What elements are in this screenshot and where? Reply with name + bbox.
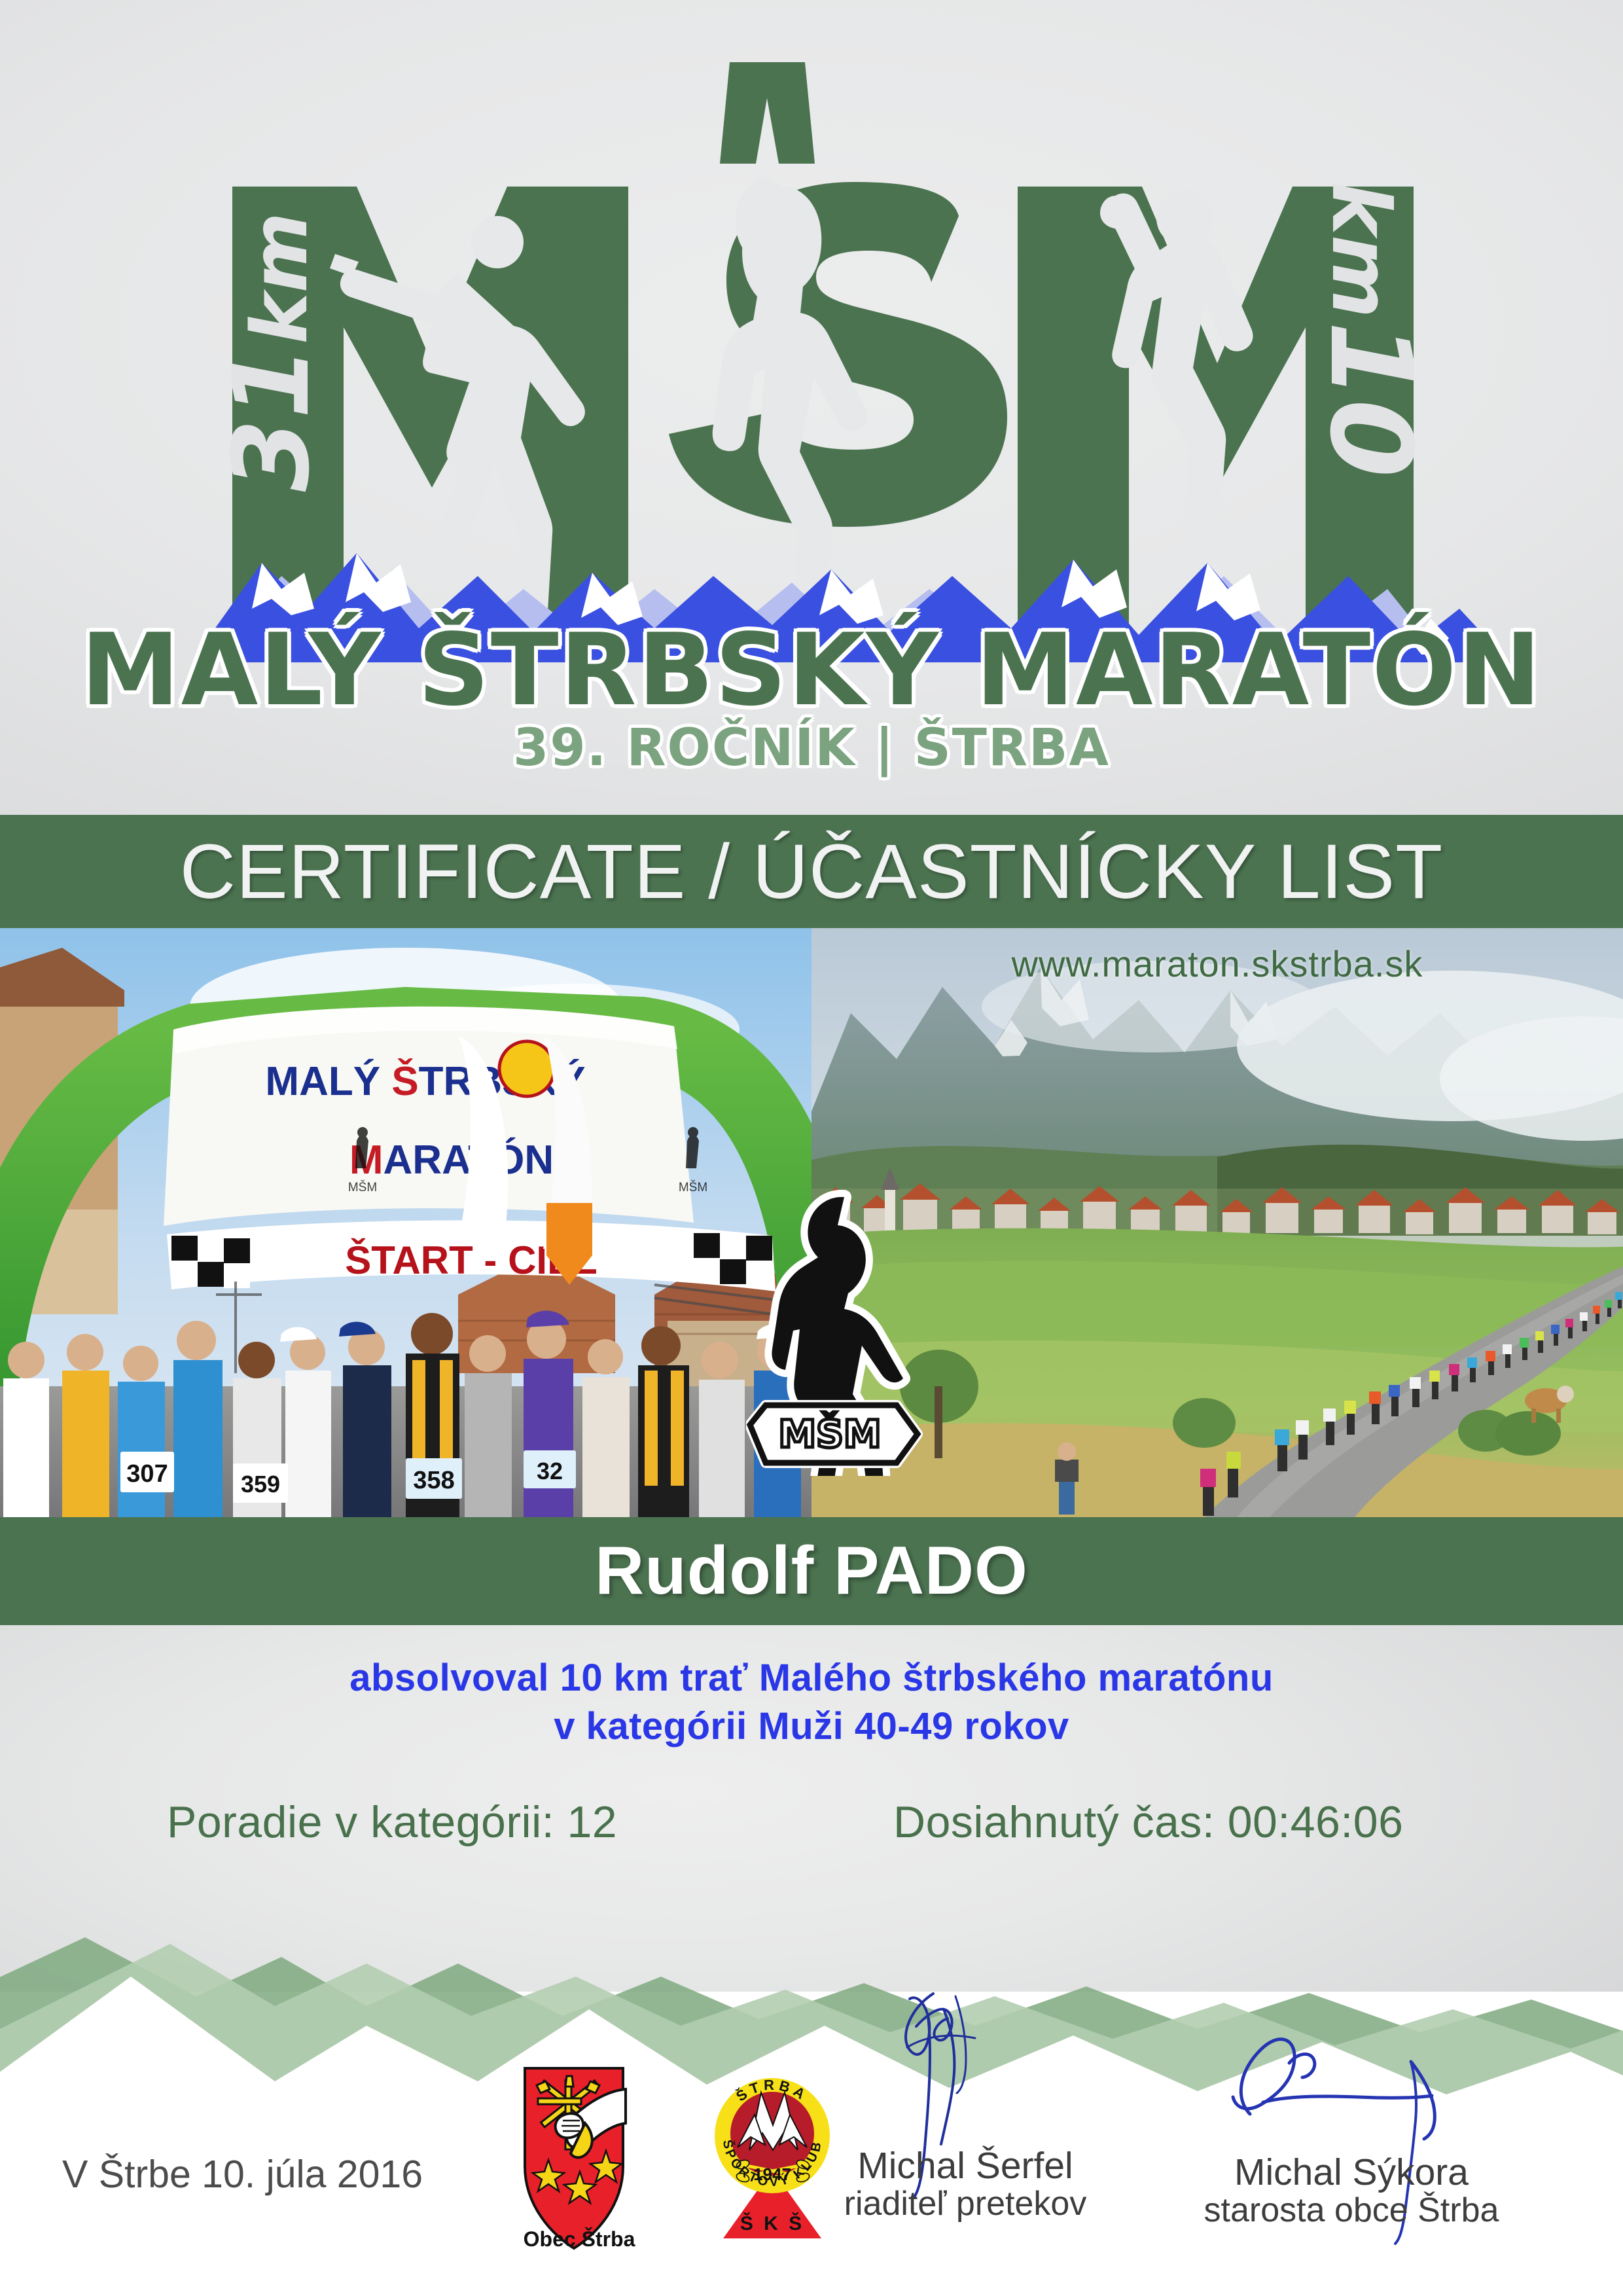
- checker-left: [171, 1236, 250, 1288]
- photo-race-start: MALÝ ŠTRBSKÝ MARATÓN MŠM MŠM: [0, 928, 811, 1517]
- svg-text:km: km: [1314, 182, 1407, 318]
- bib-number: 307: [126, 1460, 168, 1488]
- signatory-block-2: Michal Sýkora starosta obce Štrba: [1194, 2153, 1508, 2229]
- caron-accent: [720, 62, 815, 164]
- sks-club-crest: 1947 ŠTRBA ŠPORTOVÝ KLUB Š K Š: [710, 2052, 834, 2242]
- description-line-1: absolvoval 10 km trať Malého štrbského m…: [0, 1656, 1623, 1700]
- certificate-title-band: CERTIFICATE / ÚČASTNÍCKY LIST: [0, 815, 1623, 928]
- participant-name: Rudolf PADO: [0, 1517, 1623, 1625]
- signatory-role: starosta obce Štrba: [1194, 2192, 1508, 2229]
- distance-right-label: 10 km: [1305, 182, 1436, 478]
- event-subtitle: 39. ROČNÍK | ŠTRBA: [0, 719, 1623, 778]
- msm-runner-emblem: MŠM: [746, 1188, 929, 1476]
- bib-number: 358: [413, 1467, 454, 1494]
- participant-name-band: Rudolf PADO: [0, 1517, 1623, 1625]
- photo-course-landscape: [811, 928, 1623, 1517]
- svg-text:10: 10: [1305, 321, 1436, 477]
- signatory-role: riaditeľ pretekov: [821, 2185, 1109, 2222]
- place-and-date: V Štrbe 10. júla 2016: [62, 2152, 423, 2197]
- description-line-2: v kategórii Muži 40-49 rokov: [0, 1704, 1623, 1748]
- emblem-text: MŠM: [778, 1411, 881, 1456]
- distance-left-label: 31 km: [210, 212, 332, 492]
- svg-text:MŠM: MŠM: [348, 1180, 377, 1194]
- category-rank: Poradie v kategórii: 12: [167, 1797, 617, 1848]
- website-url[interactable]: www.maraton.skstrba.sk: [811, 942, 1623, 985]
- event-title: MALÝ ŠTRBSKÝ MARATÓN: [0, 612, 1623, 728]
- svg-text:km: km: [234, 212, 325, 344]
- certificate-page: 31 km 10 km: [0, 0, 1623, 2296]
- bib-number: 359: [241, 1471, 280, 1498]
- sks-initials: Š K Š: [740, 2212, 804, 2234]
- logo-header-area: 31 km 10 km: [0, 0, 1623, 815]
- signatory-name: Michal Šerfel: [821, 2147, 1109, 2185]
- svg-text:MŠM: MŠM: [679, 1180, 707, 1194]
- signatory-name: Michal Sýkora: [1194, 2153, 1508, 2192]
- svg-text:31: 31: [210, 346, 332, 492]
- certificate-title-label: CERTIFICATE / ÚČASTNÍCKY LIST: [0, 815, 1623, 928]
- arch-text-mid: MARATÓN: [349, 1138, 554, 1183]
- obec-strba-label: Obec Štrba: [524, 2227, 635, 2251]
- obec-strba-crest: Obec Štrba: [517, 2062, 641, 2258]
- bib-number: 32: [537, 1458, 563, 1484]
- signatory-block-1: Michal Šerfel riaditeľ pretekov: [821, 2147, 1109, 2222]
- finish-time: Dosiahnutý čas: 00:46:06: [893, 1797, 1403, 1848]
